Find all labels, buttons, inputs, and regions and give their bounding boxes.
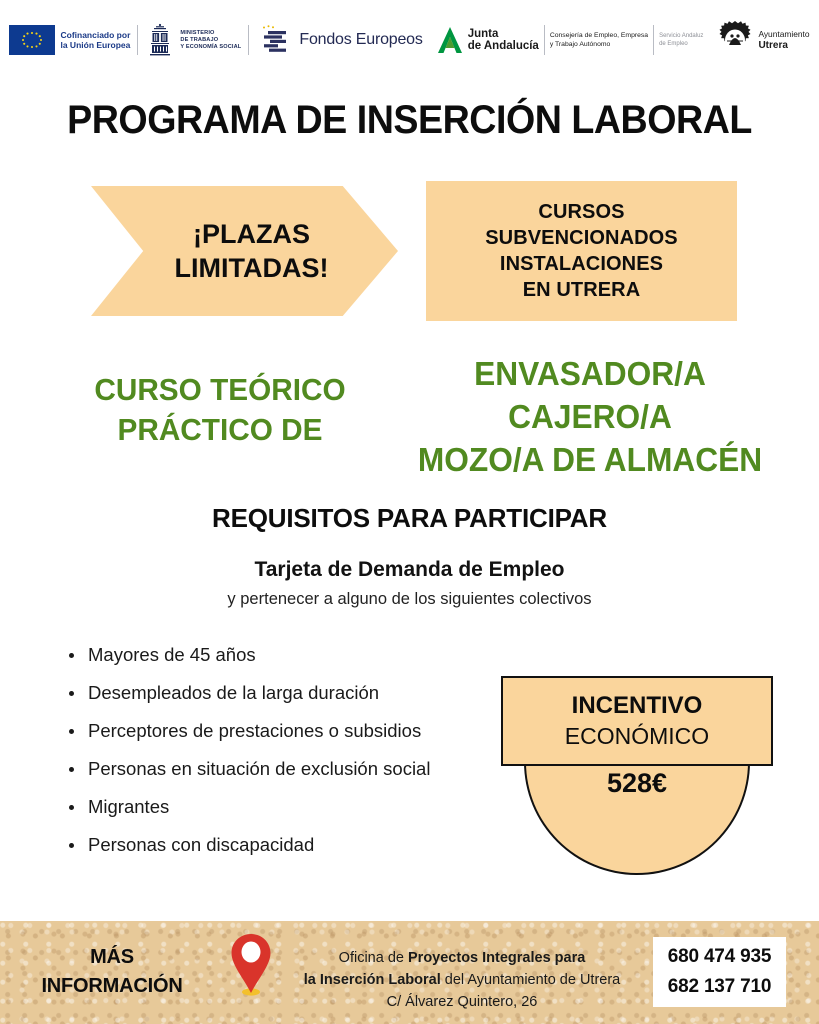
logo-ministerio-line1: MINISTERIO bbox=[180, 30, 214, 36]
phone-numbers-box[interactable]: 680 474 935 682 137 710 bbox=[653, 937, 786, 1007]
address-line3: C/ Álvarez Quintero, 26 bbox=[387, 994, 538, 1010]
requirements-subtitle-bold: Tarjeta de Demanda de Empleo bbox=[0, 558, 819, 582]
list-item: Personas con discapacidad bbox=[62, 826, 502, 864]
logo-sae-line1: Servicio Andaluz bbox=[659, 33, 703, 39]
logo-junta-line2: de Andalucía bbox=[468, 40, 539, 52]
logo-eu-label: Cofinanciado por la Unión Europea bbox=[60, 30, 130, 51]
junta-andalucia-mark-icon bbox=[437, 25, 463, 55]
office-address: Oficina de Proyectos Integrales para la … bbox=[286, 947, 638, 1013]
logo-consejeria-label: Consejería de Empleo, Empresa y Trabajo … bbox=[550, 31, 648, 49]
incentive-badge: INCENTIVO ECONÓMICO 528€ bbox=[501, 676, 773, 826]
courses-box-line3: INSTALACIONES bbox=[500, 251, 663, 277]
fondos-europeos-mark-icon bbox=[256, 23, 294, 57]
list-item: Mayores de 45 años bbox=[62, 636, 502, 674]
incentive-label-line1: INCENTIVO bbox=[572, 691, 703, 721]
page-title: PROGRAMA DE INSERCIÓN LABORAL bbox=[25, 98, 795, 143]
logo-junta-line1: Junta bbox=[468, 28, 499, 40]
more-info-line1: MÁS bbox=[90, 946, 134, 968]
logo-eu-cofinanced: Cofinanciado por la Unión Europea bbox=[2, 18, 137, 62]
job-role-line1: ENVASADOR/A bbox=[398, 352, 782, 395]
incentive-label-line2: ECONÓMICO bbox=[565, 721, 709, 751]
logo-consejeria-line2: y Trabajo Autónomo bbox=[550, 41, 610, 48]
job-roles-heading: ENVASADOR/A CAJERO/A MOZO/A DE ALMACÉN bbox=[398, 352, 782, 481]
logo-divider-3 bbox=[544, 25, 545, 55]
phone-number-1[interactable]: 680 474 935 bbox=[668, 942, 771, 972]
requirements-list: Mayores de 45 años Desempleados de la la… bbox=[62, 636, 502, 864]
chevron-line1: ¡PLAZAS bbox=[193, 217, 310, 251]
logo-eu-line2: la Unión Europea bbox=[60, 40, 130, 50]
logo-ayuntamiento-line2: Utrera bbox=[758, 40, 787, 51]
address-line2-bold: la Inserción Laboral bbox=[304, 972, 441, 988]
course-type-heading: CURSO TEÓRICO PRÁCTICO DE bbox=[62, 370, 379, 450]
chevron-line2: LIMITADAS! bbox=[175, 251, 329, 285]
incentive-badge-header: INCENTIVO ECONÓMICO bbox=[501, 676, 773, 766]
address-line1-bold: Proyectos Integrales para bbox=[408, 950, 585, 966]
list-item: Migrantes bbox=[62, 788, 502, 826]
logo-eu-line1: Cofinanciado por bbox=[60, 30, 130, 40]
job-role-line2: CAJERO/A bbox=[398, 395, 782, 438]
more-info-line2: INFORMACIÓN bbox=[41, 975, 182, 997]
institutional-logo-bar: Cofinanciado por la Unión Europea bbox=[0, 0, 819, 72]
incentive-amount: 528€ bbox=[501, 768, 773, 799]
logo-ministerio-trabajo: MINISTERIO DE TRABAJO Y ECONOMÍA SOCIAL bbox=[138, 18, 248, 62]
address-line1-plain: Oficina de bbox=[339, 950, 408, 966]
logo-junta-label: Junta de Andalucía bbox=[468, 28, 539, 53]
logo-ministerio-label: MINISTERIO DE TRABAJO Y ECONOMÍA SOCIAL bbox=[180, 30, 241, 51]
footer-contact-band: MÁS INFORMACIÓN Oficina de Proyectos Int… bbox=[0, 921, 819, 1024]
courses-box-line4: EN UTRERA bbox=[523, 277, 641, 303]
logo-junta-andalucia: Junta de Andalucía Consejería de Empleo,… bbox=[430, 18, 711, 62]
logo-ministerio-line3: Y ECONOMÍA SOCIAL bbox=[180, 44, 241, 50]
limited-places-chevron-banner: ¡PLAZAS LIMITADAS! bbox=[91, 186, 398, 316]
list-item: Perceptores de prestaciones o subsidios bbox=[62, 712, 502, 750]
logo-ayuntamiento-line1: Ayuntamiento bbox=[758, 29, 809, 39]
logo-sae-line2: de Empleo bbox=[659, 41, 688, 47]
eu-stars-icon bbox=[9, 25, 55, 55]
utrera-coat-of-arms-icon bbox=[717, 20, 753, 60]
requirements-title: REQUISITOS PARA PARTICIPAR bbox=[0, 503, 819, 534]
logo-divider-4 bbox=[653, 25, 654, 55]
logo-ayuntamiento-utrera: Ayuntamiento Utrera bbox=[710, 18, 816, 62]
phone-number-2[interactable]: 682 137 710 bbox=[668, 972, 771, 1002]
more-info-label: MÁS INFORMACIÓN bbox=[14, 943, 210, 1001]
subsidized-courses-box: CURSOS SUBVENCIONADOS INSTALACIONES EN U… bbox=[426, 181, 737, 321]
logo-ayuntamiento-label: Ayuntamiento Utrera bbox=[758, 29, 809, 51]
course-type-line2: PRÁCTICO DE bbox=[62, 410, 379, 450]
logo-fondos-europeos: Fondos Europeos bbox=[249, 18, 429, 62]
address-line2-plain: del Ayuntamiento de Utrera bbox=[441, 972, 620, 988]
map-pin-icon bbox=[228, 931, 274, 997]
logo-fondos-europeos-label: Fondos Europeos bbox=[299, 31, 422, 49]
eu-flag-icon bbox=[9, 25, 55, 55]
requirements-subtitle-plain: y pertenecer a alguno de los siguientes … bbox=[0, 590, 819, 609]
logo-consejeria-line1: Consejería de Empleo, Empresa bbox=[550, 32, 648, 39]
logo-ministerio-line2: DE TRABAJO bbox=[180, 37, 218, 43]
course-type-line1: CURSO TEÓRICO bbox=[62, 370, 379, 410]
spain-coat-of-arms-icon bbox=[145, 23, 175, 57]
courses-box-line1: CURSOS bbox=[538, 199, 624, 225]
list-item: Desempleados de la larga duración bbox=[62, 674, 502, 712]
list-item: Personas en situación de exclusión socia… bbox=[62, 750, 502, 788]
job-role-line3: MOZO/A DE ALMACÉN bbox=[398, 438, 782, 481]
logo-sae-label: Servicio Andaluz de Empleo bbox=[659, 32, 703, 48]
courses-box-line2: SUBVENCIONADOS bbox=[485, 225, 678, 251]
